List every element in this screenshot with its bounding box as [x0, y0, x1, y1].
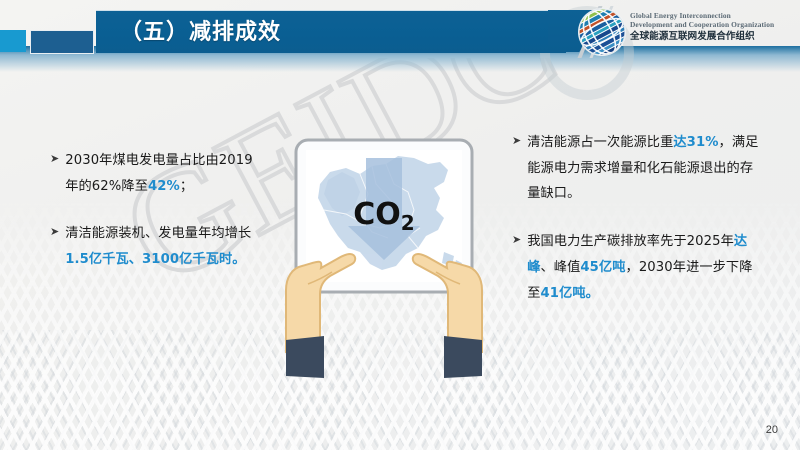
left-bullet-1: ➤2030年煤电发电量占比由2019年的62%降至42%； [50, 148, 265, 199]
right-bullet-1: ➤清洁能源占一次能源比重达31%，满足能源电力需求增量和化石能源退出的存量缺口。 [512, 130, 764, 207]
page-title: （五）减排成效 [120, 14, 281, 46]
highlight-value-2: 达31% [673, 135, 718, 150]
highlight-value-2: 1.5亿千瓦、3100亿千瓦时。 [65, 252, 245, 267]
highlight-value-4: 45亿吨 [580, 260, 625, 275]
text-run-1: 我国电力生产碳排放率先于2025年 [527, 234, 734, 249]
hands-holding-tablet-co2-illustration: CO2 [268, 132, 500, 392]
logo-en-line1: Global Energy Interconnection [630, 11, 798, 20]
right-bullet-text-1: 清洁能源占一次能源比重达31%，满足能源电力需求增量和化石能源退出的存量缺口。 [527, 130, 764, 207]
text-run-1: 清洁能源占一次能源比重 [527, 135, 673, 150]
logo-wordmark: Global Energy Interconnection Developmen… [630, 11, 798, 43]
text-run-3: ； [180, 179, 193, 194]
page-number: 20 [766, 424, 778, 436]
right-bullet-2: ➤我国电力生产碳排放率先于2025年达峰、峰值45亿吨，2030年进一步下降至4… [512, 229, 764, 306]
logo-en-line2: Development and Cooperation Organization [630, 20, 798, 29]
left-bullet-text-2: 清洁能源装机、发电量年均增长1.5亿千瓦、3100亿千瓦时。 [65, 221, 265, 272]
slide-canvas: GEIDCO （五）减排成效 [0, 0, 800, 450]
text-run-3: 、峰值 [541, 260, 581, 275]
bullet-arrow-icon: ➤ [512, 130, 521, 151]
bullet-arrow-icon: ➤ [50, 148, 59, 169]
left-bullet-text-1: 2030年煤电发电量占比由2019年的62%降至42%； [65, 148, 265, 199]
slide-header: （五）减排成效 [0, 0, 800, 62]
right-sleeve [444, 336, 482, 378]
left-bullet-2: ➤清洁能源装机、发电量年均增长1.5亿千瓦、3100亿千瓦时。 [50, 221, 265, 272]
highlight-value-6: 41亿吨。 [541, 286, 599, 301]
bullet-arrow-icon: ➤ [512, 229, 521, 250]
highlight-value-2: 42% [148, 179, 180, 194]
left-bullet-column: ➤2030年煤电发电量占比由2019年的62%降至42%；➤清洁能源装机、发电量… [50, 148, 265, 295]
bullet-arrow-icon: ➤ [50, 221, 59, 242]
left-sleeve [286, 336, 324, 378]
right-bullet-text-2: 我国电力生产碳排放率先于2025年达峰、峰值45亿吨，2030年进一步下降至41… [527, 229, 764, 306]
right-bullet-column: ➤清洁能源占一次能源比重达31%，满足能源电力需求增量和化石能源退出的存量缺口。… [512, 130, 764, 328]
text-run-1: 清洁能源装机、发电量年均增长 [65, 226, 251, 241]
header-accent-block-navy [30, 30, 94, 54]
header-accent-block-cyan [0, 30, 26, 52]
globe-icon [576, 6, 628, 58]
logo-cn-line: 全球能源互联网发展合作组织 [630, 31, 798, 43]
